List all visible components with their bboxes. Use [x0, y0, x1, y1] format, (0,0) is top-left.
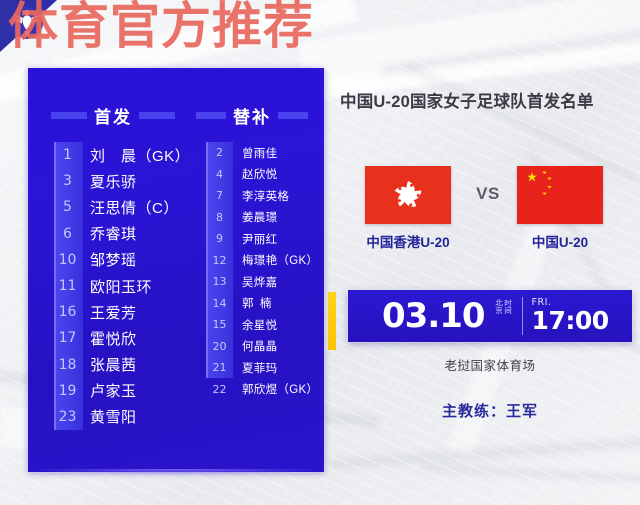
player-row: 18张晨茜 [54, 352, 204, 378]
player-row: 16王爱芳 [54, 299, 204, 325]
player-name: 郭欣煜（GK） [233, 381, 318, 397]
venue-label: 老挝国家体育场 [348, 355, 632, 374]
hong-kong-flag-icon [365, 166, 451, 224]
player-number: 7 [206, 189, 233, 202]
header-rule-right [139, 112, 175, 119]
player-row: 3夏乐骄 [54, 168, 204, 194]
kickoff-time: 17:00 [532, 308, 609, 334]
player-number: 20 [206, 340, 233, 353]
player-name: 余星悦 [233, 317, 277, 333]
starters-header-label: 首发 [87, 103, 139, 128]
player-row: 22郭欣煜（GK） [206, 379, 324, 401]
player-name: 曾雨佳 [233, 145, 277, 161]
player-name: 尹丽红 [233, 231, 277, 247]
player-row: 15余星悦 [206, 314, 324, 336]
player-name: 黄雪阳 [81, 406, 137, 427]
divider [522, 297, 523, 335]
player-row: 19卢家玉 [54, 378, 204, 404]
player-number: 8 [206, 211, 233, 224]
player-row: 4赵欣悦 [206, 164, 324, 186]
poster-canvas: 首发 替补 1刘 晨（GK）3夏乐骄5汪思倩（C）6乔睿琪10邹梦瑶11欧阳玉环… [0, 0, 640, 505]
player-row: 2曾雨佳 [206, 142, 324, 164]
kickoff-block: FRI. 17:00 [532, 298, 609, 334]
player-name: 欧阳玉环 [81, 276, 152, 297]
player-name: 郭 楠 [233, 295, 272, 311]
player-name: 卢家玉 [81, 380, 137, 401]
substitutes-header-label: 替补 [226, 103, 278, 128]
player-name: 汪思倩（C） [81, 197, 179, 218]
matchup-block: 中国香港U-20 VS 中国U-20 [340, 166, 636, 262]
player-row: 9尹丽红 [206, 228, 324, 250]
player-number: 4 [206, 168, 233, 181]
player-number: 11 [54, 278, 81, 294]
player-number: 14 [206, 297, 233, 310]
player-name: 夏乐骄 [81, 171, 137, 192]
timezone-label: 北京 时间 [495, 299, 513, 333]
page-title: 中国U-20国家女子足球队首发名单 [340, 88, 636, 112]
player-number: 15 [206, 318, 233, 331]
player-row: 20何晶晶 [206, 336, 324, 358]
substitutes-header: 替补 [190, 104, 314, 126]
player-row: 17霍悦欣 [54, 325, 204, 351]
player-row: 11欧阳玉环 [54, 273, 204, 299]
player-number: 16 [54, 304, 81, 320]
player-number: 9 [206, 232, 233, 245]
team-home-name: 中国香港U-20 [352, 231, 464, 251]
team-away: 中国U-20 [504, 166, 616, 251]
player-row: 5汪思倩（C） [54, 194, 204, 220]
player-name: 邹梦瑶 [81, 249, 137, 270]
china-flag-icon [517, 166, 603, 224]
player-row: 8姜晨璟 [206, 207, 324, 229]
player-row: 21夏菲玛 [206, 357, 324, 379]
team-away-name: 中国U-20 [504, 231, 616, 251]
player-name: 霍悦欣 [81, 328, 137, 349]
player-row: 23黄雪阳 [54, 404, 204, 430]
player-name: 王爱芳 [81, 302, 137, 323]
player-number: 5 [54, 199, 81, 215]
watermark-text: 体育官方推荐 [8, 0, 314, 54]
substitutes-list: 2曾雨佳4赵欣悦7李淳英格8姜晨璟9尹丽红12梅璟艳（GK）13吴烨嘉14郭 楠… [206, 142, 324, 400]
player-number: 13 [206, 275, 233, 288]
timezone-label-col2: 时间 [504, 299, 513, 333]
player-number: 2 [206, 146, 233, 159]
player-number: 21 [206, 361, 233, 374]
player-number: 6 [54, 226, 81, 242]
player-name: 李淳英格 [233, 188, 289, 204]
player-name: 夏菲玛 [233, 360, 277, 376]
match-date: 03.10 [382, 299, 485, 333]
player-row: 12梅璟艳（GK） [206, 250, 324, 272]
player-row: 6乔睿琪 [54, 221, 204, 247]
panel-glow [28, 469, 324, 475]
player-number: 19 [54, 383, 81, 399]
player-name: 吴烨嘉 [233, 274, 277, 290]
starters-list: 1刘 晨（GK）3夏乐骄5汪思倩（C）6乔睿琪10邹梦瑶11欧阳玉环16王爱芳1… [54, 142, 204, 430]
player-row: 13吴烨嘉 [206, 271, 324, 293]
player-number: 23 [54, 409, 81, 425]
team-home: 中国香港U-20 [352, 166, 464, 251]
accent-bar [328, 292, 336, 350]
starters-header: 首发 [38, 104, 188, 126]
lineup-panel: 首发 替补 1刘 晨（GK）3夏乐骄5汪思倩（C）6乔睿琪10邹梦瑶11欧阳玉环… [28, 68, 324, 472]
player-name: 刘 晨（GK） [81, 145, 190, 166]
player-number: 3 [54, 173, 81, 189]
player-number: 22 [206, 383, 233, 396]
player-name: 赵欣悦 [233, 166, 277, 182]
player-number: 12 [206, 254, 233, 267]
player-row: 14郭 楠 [206, 293, 324, 315]
player-number: 17 [54, 330, 81, 346]
player-row: 7李淳英格 [206, 185, 324, 207]
header-rule-left [51, 112, 87, 119]
player-name: 何晶晶 [233, 338, 277, 354]
header-rule-left [196, 112, 226, 119]
header-rule-right [278, 112, 308, 119]
player-name: 张晨茜 [81, 354, 137, 375]
match-datetime-band: 03.10 北京 时间 FRI. 17:00 [348, 290, 632, 342]
player-row: 10邹梦瑶 [54, 247, 204, 273]
player-name: 梅璟艳（GK） [233, 252, 318, 268]
player-name: 姜晨璟 [233, 209, 277, 225]
player-number: 10 [54, 252, 81, 268]
timezone-label-col1: 北京 [495, 299, 504, 333]
player-number: 1 [54, 147, 81, 163]
player-name: 乔睿琪 [81, 223, 137, 244]
player-row: 1刘 晨（GK） [54, 142, 204, 168]
coach-label: 主教练：王军 [348, 400, 632, 421]
player-number: 18 [54, 357, 81, 373]
